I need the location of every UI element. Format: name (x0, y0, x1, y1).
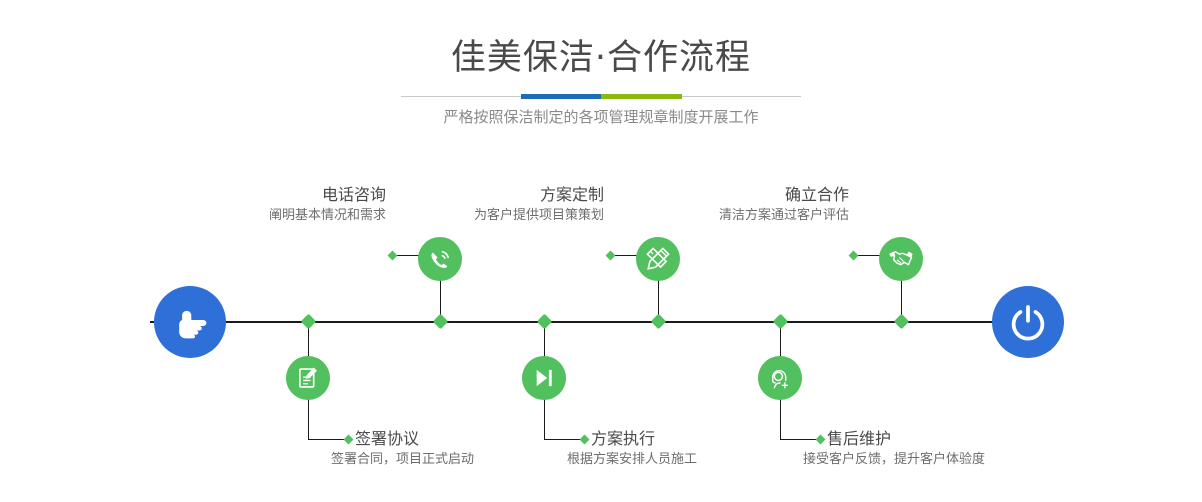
flow-end-endpoint (992, 286, 1064, 358)
connector-dot-step-3 (606, 251, 616, 261)
step-icon-circle-5 (879, 237, 923, 281)
page-title: 佳美保洁·合作流程 (0, 36, 1202, 80)
page-subtitle: 严格按照保洁制定的各项管理规章制度开展工作 (0, 106, 1202, 128)
title-divider (401, 94, 801, 99)
timeline-marker-step-2 (301, 314, 317, 330)
connector-hline-step-6 (780, 439, 820, 440)
flow-start-endpoint (154, 286, 226, 358)
step-icon-circle-3 (636, 237, 680, 281)
connector-hline-step-4 (544, 439, 584, 440)
divider-blue-segment (521, 94, 601, 99)
connector-dot-step-5 (849, 251, 859, 261)
document-edit-icon (295, 365, 321, 391)
step-title-5: 确立合作 (581, 184, 849, 206)
step-label-5: 确立合作 清洁方案通过客户评估 (581, 184, 849, 226)
step-icon-circle-2 (286, 356, 330, 400)
timeline-marker-step-3 (651, 314, 667, 330)
divider-green-segment (601, 94, 682, 99)
connector-hline-step-2 (308, 439, 348, 440)
timeline-marker-step-4 (537, 314, 553, 330)
customer-support-add-icon (767, 365, 793, 391)
connector-dot-step-1 (388, 251, 398, 261)
pencil-ruler-icon (645, 246, 671, 272)
step-label-3: 方案定制 为客户提供项目策策划 (336, 184, 604, 226)
timeline-marker-step-1 (433, 314, 449, 330)
step-icon-circle-4 (522, 356, 566, 400)
handshake-icon (888, 246, 914, 272)
timeline-axis (150, 321, 1052, 323)
page-header: 佳美保洁·合作流程 严格按照保洁制定的各项管理规章制度开展工作 (0, 0, 1202, 140)
play-forward-icon (531, 365, 557, 391)
connector-dot-step-2 (344, 435, 354, 445)
step-desc-3: 为客户提供项目策策划 (336, 206, 604, 226)
step-icon-circle-6 (758, 356, 802, 400)
pointing-hand-icon (169, 301, 211, 343)
step-title-3: 方案定制 (336, 184, 604, 206)
step-title-6: 售后维护 (827, 428, 1127, 450)
timeline-marker-step-6 (773, 314, 789, 330)
process-flow-diagram: 电话咨询 阐明基本情况和需求 签署协议 签署合同，项目正式启动 (0, 140, 1202, 502)
power-button-icon (1008, 302, 1048, 342)
step-icon-circle-1 (418, 237, 462, 281)
step-label-6: 售后维护 接受客户反馈，提升客户体验度 (827, 428, 1127, 470)
step-desc-6: 接受客户反馈，提升客户体验度 (803, 450, 1127, 470)
step-desc-5: 清洁方案通过客户评估 (581, 206, 849, 226)
phone-call-icon (427, 246, 453, 272)
timeline-marker-step-5 (894, 314, 910, 330)
